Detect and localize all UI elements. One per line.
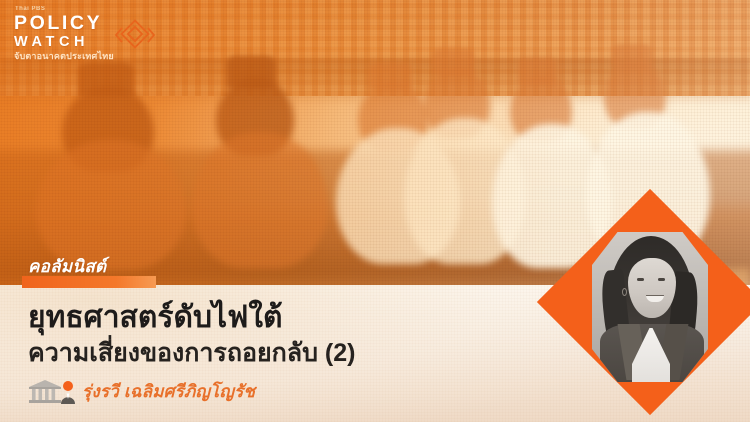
headline-line-1: ยุทธศาสตร์ดับไฟใต้ xyxy=(28,300,282,336)
thaipbs-policy-watch-logo[interactable]: Thai PBS POLICY WATCH จับตาอนาคตประเทศไท… xyxy=(14,6,164,62)
author-portrait[interactable] xyxy=(570,222,730,382)
person-icon xyxy=(60,380,76,404)
portrait-clip xyxy=(592,232,708,382)
diamond-logo-icon xyxy=(114,19,156,52)
logo-tagline: จับตาอนาคตประเทศไทย xyxy=(14,51,164,62)
headline-line-2: ความเสี่ยงของการถอยกลับ (2) xyxy=(28,338,355,369)
author-name: รุ่งรวี เฉลิมศรีภิญโญรัช xyxy=(82,378,255,405)
category-badge[interactable]: คอลัมนิสต์ xyxy=(28,254,106,288)
network-name: Thai PBS xyxy=(15,6,164,13)
eye-right xyxy=(658,278,665,281)
government-building-icon xyxy=(28,379,62,405)
article-cover-card: Thai PBS POLICY WATCH จับตาอนาคตประเทศไท… xyxy=(0,0,750,422)
category-badge-label: คอลัมนิสต์ xyxy=(28,254,106,280)
portrait-photo xyxy=(592,232,708,382)
earring xyxy=(622,288,627,296)
author-byline[interactable]: รุ่งรวี เฉลิมศรีภิญโญรัช xyxy=(28,378,255,405)
eye-left xyxy=(637,278,644,281)
